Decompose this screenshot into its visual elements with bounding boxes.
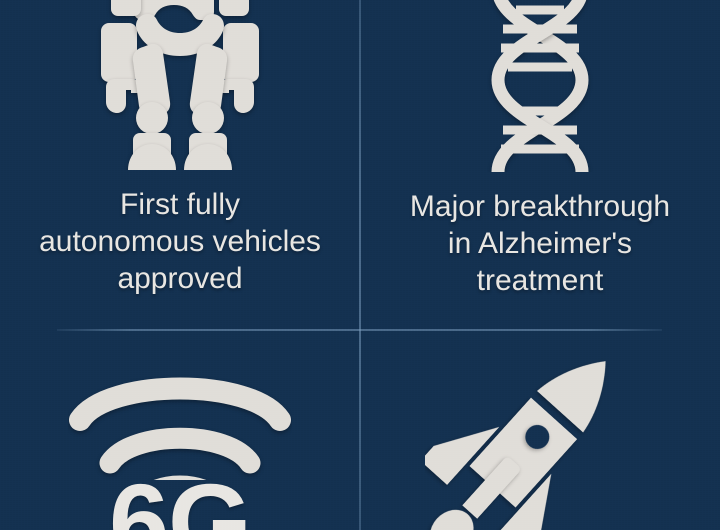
rocket-icon-wrap: [360, 334, 720, 530]
divider-vertical: [359, 0, 361, 530]
network-generation-label: 6G: [0, 468, 360, 530]
tile-autonomous-vehicles[interactable]: First fully autonomous vehicles approved: [0, 0, 360, 330]
tile-caption: First fully autonomous vehicles approved: [30, 186, 330, 297]
rocket-icon: [425, 334, 655, 530]
tile-caption: Major breakthrough in Alzheimer's treatm…: [390, 188, 690, 299]
dna-helix-icon: [476, 0, 604, 172]
robot-icon-wrap: [95, 0, 265, 170]
divider-horizontal: [57, 329, 662, 331]
tile-alzheimers-breakthrough[interactable]: Major breakthrough in Alzheimer's treatm…: [360, 0, 720, 330]
robot-icon: [96, 0, 264, 170]
tile-space-launch[interactable]: [360, 330, 720, 530]
tile-6g-network[interactable]: 6G: [0, 330, 360, 530]
dna-helix-icon-wrap: [465, 0, 615, 172]
